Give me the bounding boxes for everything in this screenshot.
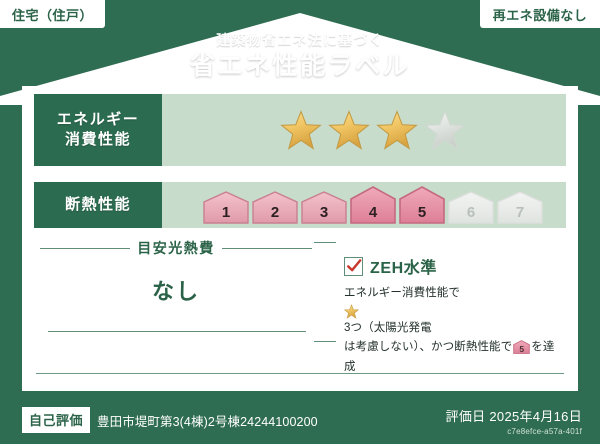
zeh-description-part1: エネルギー消費性能で [344, 287, 460, 299]
utility-cost-rule-left [40, 248, 130, 249]
insulation-level-7-value: 7 [516, 204, 524, 221]
insulation-level-5-value: 5 [418, 204, 426, 221]
star-icon-filled-3 [376, 109, 418, 151]
self-evaluation-badge: 自己評価 [22, 407, 90, 433]
utility-cost-rule-right [222, 248, 312, 249]
star-icon-empty-4 [424, 109, 466, 151]
energy-performance-label-box: エネルギー 消費性能 [34, 94, 162, 166]
insulation-level-4: 4 [350, 186, 396, 224]
inline-insulation-level-badge: 5 [513, 340, 530, 354]
divider-utility-cost [48, 331, 306, 332]
inline-insulation-level-value: 5 [519, 344, 524, 354]
insulation-performance-row: 断熱性能 [34, 182, 566, 228]
insulation-level-2: 2 [252, 191, 298, 224]
zeh-description-part2: 3つ（太陽光発電 [344, 322, 432, 334]
badge-building-type-label: 住宅（住戸） [12, 5, 93, 24]
utility-cost-heading-label: 目安光熱費 [137, 238, 215, 258]
insulation-level-3-value: 3 [320, 204, 328, 221]
page-title: 省エネ性能ラベル [0, 53, 600, 81]
insulation-performance-label-box: 断熱性能 [34, 182, 162, 228]
utility-cost-value: なし [40, 274, 312, 306]
insulation-level-1: 1 [203, 191, 249, 224]
footer-right: 評価日 2025年4月16日 c7e8efce-a57a-401f [446, 406, 582, 436]
zeh-header: ZEH水準 [344, 254, 564, 278]
energy-performance-label-line1: エネルギー [57, 110, 140, 130]
utility-cost-heading: 目安光熱費 [40, 238, 312, 258]
energy-performance-label-line2: 消費性能 [65, 130, 131, 150]
zeh-block: ZEH水準 エネルギー消費性能で 3つ（太陽光発電 は考慮しない）、かつ断熱性能… [344, 254, 564, 377]
insulation-performance-levels: 1 2 3 [162, 182, 566, 228]
footer-left: 自己評価 豊田市堤町第3(4棟)2号棟24244100200 [22, 407, 318, 433]
insulation-level-4-value: 4 [369, 204, 377, 221]
zeh-checkbox[interactable] [344, 257, 363, 276]
energy-performance-row: エネルギー 消費性能 [34, 94, 566, 166]
insulation-level-6: 6 [448, 191, 494, 224]
energy-performance-label: 住宅（住戸） 再エネ設備なし 建築物省エネ法に基づく 省エネ性能ラベル エネルギ… [0, 0, 600, 444]
badge-renewable-energy-label: 再エネ設備なし [493, 5, 588, 24]
divider-zeh-bottom [314, 341, 336, 342]
zeh-description: エネルギー消費性能で 3つ（太陽光発電 は考慮しない）、かつ断熱性能で 5 を達… [344, 284, 564, 377]
insulation-performance-label: 断熱性能 [65, 195, 131, 215]
insulation-level-3: 3 [301, 191, 347, 224]
divider-zeh-top [314, 242, 336, 243]
insulation-level-5: 5 [399, 186, 445, 224]
zeh-description-part3: は考慮しない）、かつ断熱性能で [344, 341, 512, 353]
star-icon-inline [344, 304, 359, 319]
header: 建築物省エネ法に基づく 省エネ性能ラベル [0, 33, 600, 81]
badge-renewable-energy: 再エネ設備なし [480, 0, 600, 28]
label-card: エネルギー 消費性能 [22, 86, 578, 391]
insulation-level-7: 7 [497, 191, 543, 224]
evaluation-date: 評価日 2025年4月16日 [446, 406, 582, 425]
star-icon-filled-2 [328, 109, 370, 151]
energy-performance-stars [162, 94, 566, 166]
insulation-level-2-value: 2 [271, 204, 279, 221]
insulation-level-6-value: 6 [467, 204, 475, 221]
evaluation-hash: c7e8efce-a57a-401f [446, 427, 582, 436]
insulation-level-1-value: 1 [222, 204, 230, 221]
zeh-title: ZEH水準 [370, 254, 437, 278]
badge-building-type: 住宅（住戸） [0, 0, 105, 28]
star-icon-filled-1 [280, 109, 322, 151]
header-subtitle: 建築物省エネ法に基づく [0, 33, 600, 48]
property-address: 豊田市堤町第3(4棟)2号棟24244100200 [97, 411, 318, 430]
